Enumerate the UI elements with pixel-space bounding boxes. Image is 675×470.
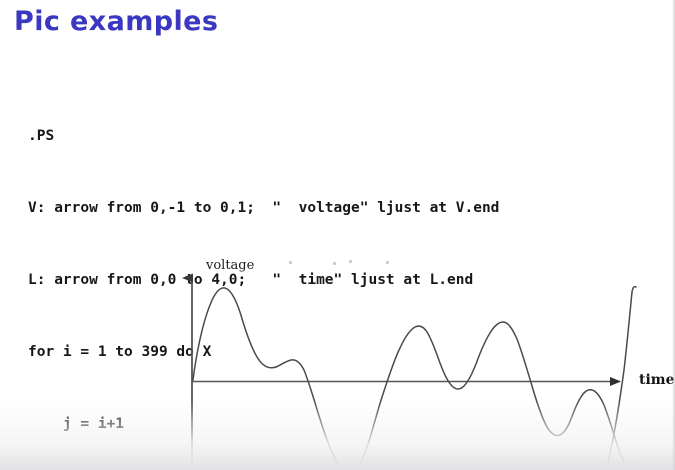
text-speck [333,262,336,265]
page-title: Pic examples [14,6,218,37]
text-speck [386,261,389,264]
code-line: V: arrow from 0,-1 to 0,1; " voltage" lj… [28,196,508,220]
waveform-tail [606,287,636,470]
text-speck [349,260,352,263]
time-axis-label: time [639,372,675,388]
code-line: .PS [28,124,508,148]
text-speck [289,261,292,264]
slide-canvas: Pic examples .PS V: arrow from 0,-1 to 0… [0,0,675,470]
code-line: j = i+1 [28,412,508,436]
code-line: L: arrow from 0,0 to 4,0; " time" ljust … [28,268,508,292]
code-line: for i = 1 to 399 do X [28,340,508,364]
code-listing: .PS V: arrow from 0,-1 to 0,1; " voltage… [28,76,508,470]
